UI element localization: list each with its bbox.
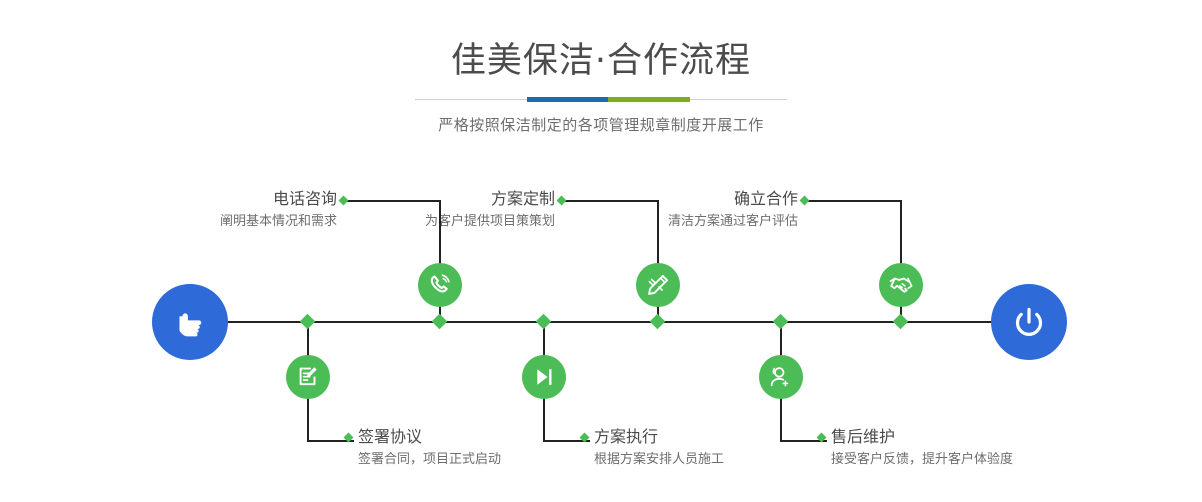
step-label-6: 售后维护 接受客户反馈，提升客户体验度 [831, 426, 1013, 470]
header: 佳美保洁·合作流程 严格按照保洁制定的各项管理规章制度开展工作 [0, 0, 1202, 136]
page-title: 佳美保洁·合作流程 [0, 0, 1202, 84]
axis-marker-1 [432, 314, 448, 330]
axis-marker-5 [893, 314, 909, 330]
pointing-hand-icon [170, 302, 210, 342]
step-icon-5[interactable] [879, 263, 923, 307]
handshake-icon [888, 272, 915, 299]
divider-segment-blue [527, 97, 608, 102]
pencil-design-icon [645, 272, 671, 298]
step-label-4: 方案执行 根据方案安排人员施工 [594, 426, 724, 470]
connector-arm-5 [805, 200, 902, 202]
step-icon-6[interactable] [759, 355, 803, 399]
start-node[interactable] [152, 284, 228, 360]
axis-marker-4 [536, 314, 552, 330]
label-marker-5 [800, 196, 810, 206]
axis-marker-2 [300, 314, 316, 330]
divider-segment-green [608, 97, 690, 102]
title-divider [415, 97, 787, 103]
connector-arm-1 [344, 200, 441, 202]
axis-marker-3 [650, 314, 666, 330]
play-skip-icon [531, 364, 557, 390]
step-icon-4[interactable] [522, 355, 566, 399]
step-icon-3[interactable] [636, 263, 680, 307]
page-subtitle: 严格按照保洁制定的各项管理规章制度开展工作 [0, 103, 1202, 136]
step-label-2: 签署协议 签署合同，项目正式启动 [358, 426, 501, 470]
step-icon-1[interactable] [418, 263, 462, 307]
axis-marker-6 [773, 314, 789, 330]
step-subtitle-6: 接受客户反馈，提升客户体验度 [831, 450, 1013, 470]
phone-call-icon [427, 272, 453, 298]
power-icon [1007, 300, 1051, 344]
headset-support-icon [768, 364, 794, 390]
step-subtitle-5: 清洁方案通过客户评估 [470, 212, 798, 232]
step-subtitle-2: 签署合同，项目正式启动 [358, 450, 501, 470]
step-icon-2[interactable] [286, 355, 330, 399]
connector-arm-3 [562, 200, 659, 202]
flow-infographic: 佳美保洁·合作流程 严格按照保洁制定的各项管理规章制度开展工作 [0, 0, 1202, 502]
document-edit-icon [295, 364, 321, 390]
step-title-4: 方案执行 [594, 426, 724, 448]
step-title-6: 售后维护 [831, 426, 1013, 448]
step-title-2: 签署协议 [358, 426, 501, 448]
step-title-5: 确立合作 [470, 188, 798, 210]
step-subtitle-4: 根据方案安排人员施工 [594, 450, 724, 470]
end-node[interactable] [991, 284, 1067, 360]
step-label-5: 确立合作 清洁方案通过客户评估 [470, 188, 798, 232]
